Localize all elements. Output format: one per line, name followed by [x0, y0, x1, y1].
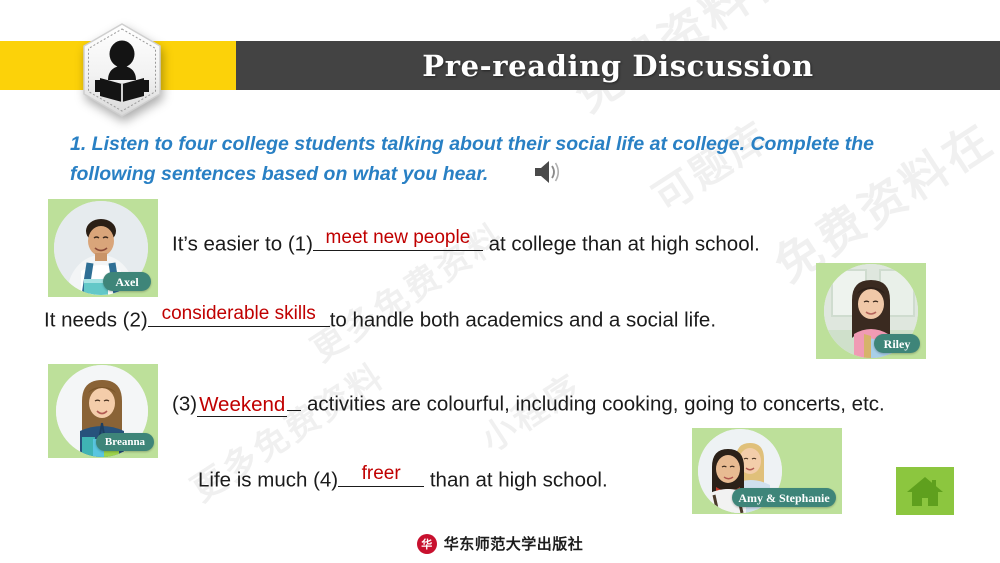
student-photo-amy-stephanie: Amy & Stephanie — [692, 428, 842, 514]
sentence-row-2: It needs (2)considerable skillsto handle… — [44, 304, 716, 333]
sentence-after: than at high school. — [430, 469, 608, 492]
home-icon — [905, 474, 945, 508]
sentence-before: Life is much (4) — [198, 469, 338, 492]
answer-blank-2[interactable]: considerable skills — [148, 304, 330, 327]
sentence-after: activities are colourful, including cook… — [307, 393, 885, 416]
footer: 华 华东师范大学出版社 — [0, 524, 1000, 563]
answer-blank-1[interactable]: meet new people — [313, 228, 483, 251]
student-photo-breanna: Breanna — [48, 364, 158, 458]
photo-name-label: Breanna — [96, 433, 154, 451]
answer-text-1: meet new people — [326, 227, 471, 249]
instruction-line: 1. Listen to four college students talki… — [70, 133, 874, 185]
publisher-logo-icon: 华 — [417, 534, 437, 554]
slide-canvas: 免费资料在 可题库 更多免费资料 小程序 免费资料在 更多免费资料 Pre-re… — [0, 0, 1000, 563]
answer-text-3[interactable]: Weekend — [197, 393, 287, 417]
answer-text-2: considerable skills — [162, 303, 316, 325]
sentence-row-4: Life is much (4)freer than at high schoo… — [198, 464, 608, 493]
sentence-before: (3) — [172, 393, 197, 416]
photo-name-label: Amy & Stephanie — [732, 488, 836, 507]
sentence-row-3: (3)Weekend activities are colourful, inc… — [172, 388, 885, 417]
person-reading-book-icon — [78, 22, 166, 118]
answer-text-4: freer — [362, 463, 401, 485]
header: Pre-reading Discussion — [0, 0, 1000, 120]
student-photo-riley: Riley — [816, 263, 926, 359]
home-button[interactable] — [896, 467, 954, 515]
answer-blank-3[interactable] — [287, 388, 301, 411]
page-title: Pre-reading Discussion — [236, 41, 1000, 90]
publisher-name: 华东师范大学出版社 — [444, 533, 584, 554]
sentence-after: to handle both academics and a social li… — [330, 309, 716, 332]
instruction-text: 1. Listen to four college students talki… — [70, 129, 955, 189]
sentence-before: It’s easier to (1) — [172, 233, 313, 256]
sentence-before: It needs (2) — [44, 309, 148, 332]
speaker-audio-icon[interactable] — [532, 158, 562, 186]
photo-name-label: Axel — [103, 272, 151, 291]
sentence-after: at college than at high school. — [489, 233, 760, 256]
photo-name-label: Riley — [874, 334, 920, 353]
sentence-row-1: It’s easier to (1)meet new people at col… — [172, 228, 760, 257]
student-photo-axel: Axel — [48, 199, 158, 297]
answer-blank-4[interactable]: freer — [338, 464, 424, 487]
